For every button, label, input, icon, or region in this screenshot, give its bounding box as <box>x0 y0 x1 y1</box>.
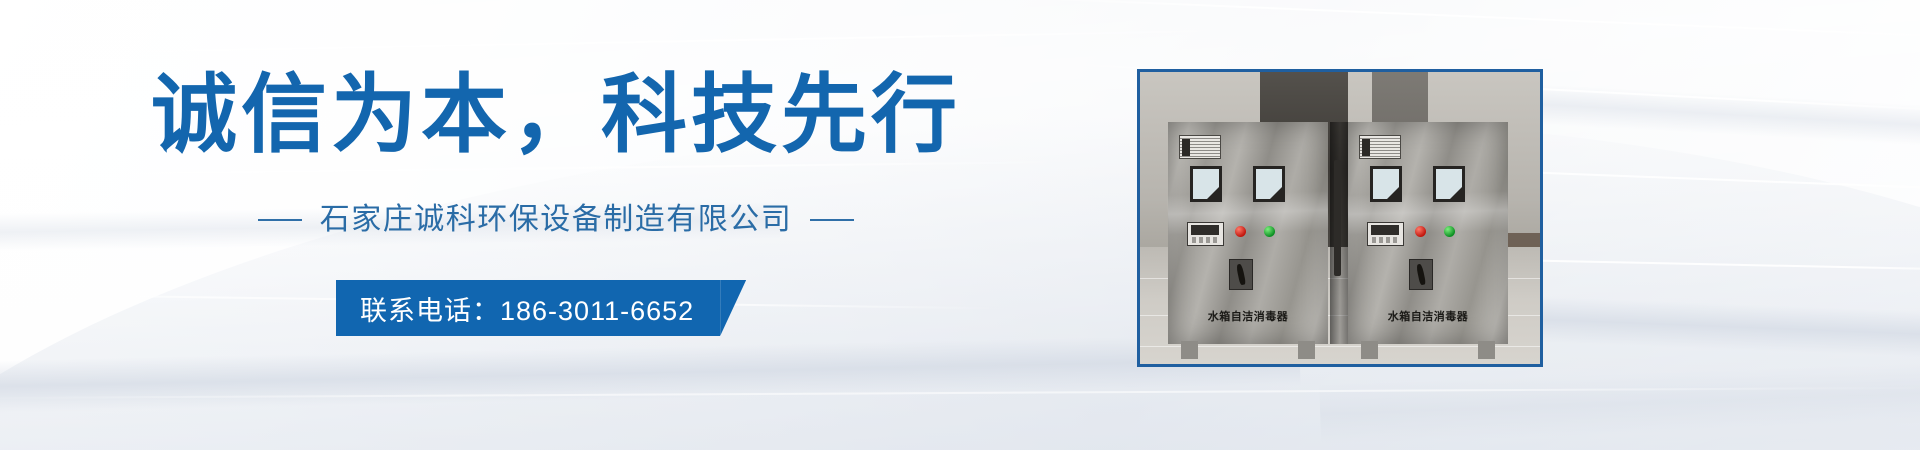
cabinet-right: 水箱自洁消毒器 <box>1348 122 1508 344</box>
cabinet-right-selector-knob-icon <box>1409 259 1433 290</box>
cabinet-right-green-lamp-icon <box>1444 226 1455 237</box>
cabinet-right-leg-1 <box>1361 341 1379 359</box>
banner-headline: 诚信为本，科技先行 <box>0 72 1130 158</box>
contact-banner[interactable]: 联系电话：186-3011-6652 <box>336 280 746 336</box>
cabinet-left-leg-2 <box>1298 341 1316 359</box>
cabinet-left-meter-1 <box>1190 166 1222 202</box>
contact-text[interactable]: 联系电话：186-3011-6652 <box>336 280 720 336</box>
cabinet-right-label: 水箱自洁消毒器 <box>1348 308 1508 324</box>
cabinet-door-handle-icon <box>1334 160 1340 277</box>
product-photo-image: 水箱自洁消毒器 水箱自洁消毒器 <box>1140 72 1540 364</box>
background-band-5 <box>1319 360 1920 444</box>
cabinet-left-selector-knob-icon <box>1229 259 1253 290</box>
banner-subtitle-row: 石家庄诚科环保设备制造有限公司 <box>0 205 1130 235</box>
cabinet-right-vent-icon <box>1359 135 1401 159</box>
cabinet-left-label: 水箱自洁消毒器 <box>1168 308 1328 324</box>
contact-banner-arrow-icon <box>720 280 746 336</box>
cabinet-right-red-lamp-icon <box>1415 226 1426 237</box>
em-dash-right-icon <box>810 219 854 221</box>
cabinet-left-leg-1 <box>1181 341 1199 359</box>
banner-text-block: 诚信为本，科技先行 石家庄诚科环保设备制造有限公司 联系电话：186-3011-… <box>0 0 1130 450</box>
cabinet-left-controller <box>1187 222 1224 246</box>
cabinet-right-leg-2 <box>1478 341 1496 359</box>
promo-banner: 诚信为本，科技先行 石家庄诚科环保设备制造有限公司 联系电话：186-3011-… <box>0 0 1920 450</box>
cabinet-left-red-lamp-icon <box>1235 226 1246 237</box>
cabinet-left-green-lamp-icon <box>1264 226 1275 237</box>
cabinet-right-meter-1 <box>1370 166 1402 202</box>
cabinet-left-meter-2 <box>1253 166 1285 202</box>
cabinet-right-controller <box>1367 222 1404 246</box>
cabinet-left-vent-icon <box>1179 135 1221 159</box>
product-photo: 水箱自洁消毒器 水箱自洁消毒器 <box>1137 69 1543 367</box>
cabinet-left: 水箱自洁消毒器 <box>1168 122 1328 344</box>
em-dash-left-icon <box>258 219 302 221</box>
cabinet-right-meter-2 <box>1433 166 1465 202</box>
banner-subtitle: 石家庄诚科环保设备制造有限公司 <box>320 205 793 235</box>
